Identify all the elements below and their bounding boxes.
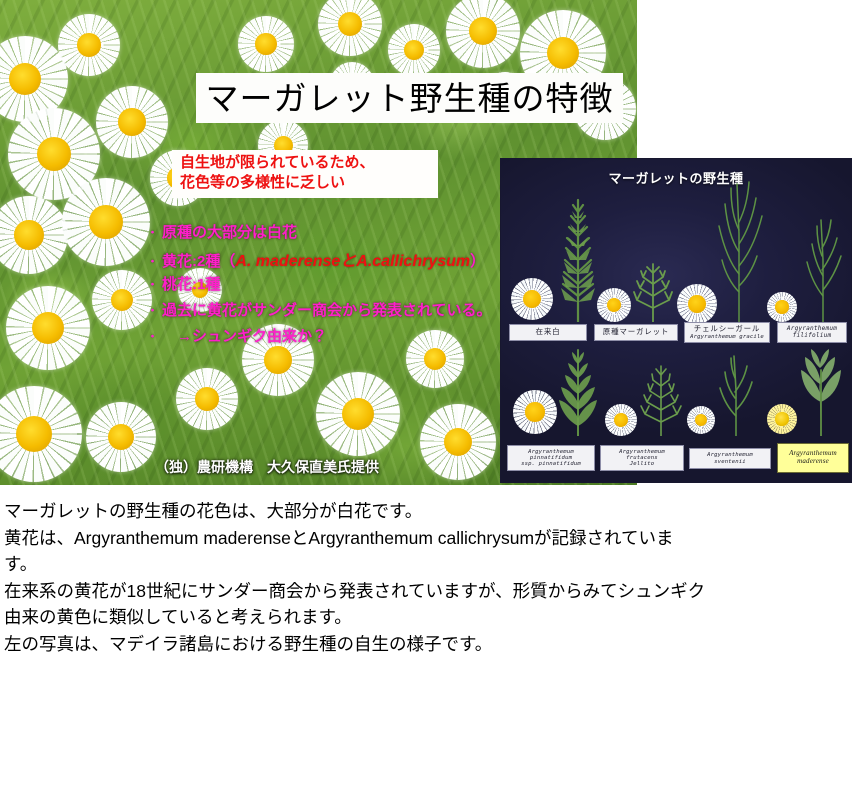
- bullet-marker: ・: [146, 222, 162, 241]
- species-label-line3: ssp. pinnatifidum: [521, 461, 581, 467]
- body-line: マーガレットの野生種の花色は、大部分が白花です。: [4, 498, 852, 525]
- plant-silhouette-chelsea-girl: [713, 174, 767, 322]
- bullet-text: →シュンギク由来か？: [162, 325, 327, 346]
- slide-title-box: マーガレット野生種の特徴: [196, 73, 623, 123]
- bullet-text: 過去に黄花がサンダー商会から発表されている。: [162, 299, 492, 320]
- species-label-frutacens-jellito: Argyranthemum frutacens Jellito: [600, 445, 684, 471]
- species-reference-panel: マーガレットの野生種: [500, 158, 852, 483]
- plant-silhouette-maderense: [797, 340, 845, 436]
- species-label-jp: 原種マーガレット: [603, 328, 669, 336]
- species-label-chelsea-girl: チェルシーガール Argyranthemum gracile: [684, 322, 770, 343]
- flower-head-chelsea-girl: [677, 284, 717, 324]
- body-line: 在来系の黄花が18世紀にサンダー商会から発表されていますが、形質からみてシュンギ…: [4, 578, 852, 605]
- daisy-flower: [86, 402, 156, 472]
- daisy-flower: [58, 14, 120, 76]
- daisy-flower: [6, 286, 90, 370]
- bullet-marker: ・: [146, 300, 162, 319]
- species-label-jp: チェルシーガール: [694, 325, 760, 333]
- daisy-flower: [176, 368, 238, 430]
- daisy-flower: [420, 404, 496, 480]
- daisy-flower: [96, 86, 168, 158]
- bullet-marker: ・: [146, 251, 162, 270]
- daisy-flower: [92, 270, 152, 330]
- daisy-flower: [238, 16, 294, 72]
- species-label-pinnatifidum: Argyranthemum pinnatifidum ssp. pinnatif…: [507, 445, 595, 471]
- species-label-line2: sventenii: [714, 459, 746, 465]
- body-line: 黄花は、Argyranthemum maderenseとArgyranthemu…: [4, 525, 852, 552]
- callout-line-2: 花色等の多様性に乏しい: [180, 173, 430, 193]
- flower-head-filifolium: [767, 292, 797, 322]
- list-item: ・ 桃花:1種: [146, 273, 516, 299]
- bullet-text-tail: ）: [470, 250, 485, 271]
- species-label-scientific-line2: filifolium: [793, 333, 832, 340]
- daisy-flower: [316, 372, 400, 456]
- species-label-sventenii: Argyranthemum sventenii: [689, 448, 771, 469]
- species-label-maderense-highlighted: Argyranthemum maderense: [777, 443, 849, 473]
- list-item: ・ 黄花:2種（A. maderenseとA.callichrysum）: [146, 247, 516, 273]
- species-panel-title: マーガレットの野生種: [501, 168, 851, 187]
- daisy-flower: [62, 178, 150, 266]
- photo-credit: （独）農研機構 大久保直美氏提供: [155, 457, 379, 477]
- body-line: 左の写真は、マデイラ諸島における野生種の自生の様子です。: [4, 631, 852, 658]
- daisy-flower: [388, 24, 440, 76]
- slide-area: マーガレット野生種の特徴 自生地が限られているため、 花色等の多様性に乏しい ・…: [0, 0, 856, 490]
- flower-head-zairaishiro: [511, 278, 553, 320]
- bullet-scientific-name: A. maderenseとA.callichrysum: [235, 247, 470, 271]
- species-label-scientific: Argyranthemum gracile: [690, 334, 764, 340]
- body-line: す。: [4, 551, 852, 578]
- bullet-text: 桃花:1種: [162, 273, 220, 294]
- flower-head-genshu: [597, 288, 631, 322]
- callout-box: 自生地が限られているため、 花色等の多様性に乏しい: [172, 150, 438, 198]
- body-line: 由来の黄色に類似していると考えられます。: [4, 604, 852, 631]
- species-label-line3: Jellito: [630, 461, 655, 467]
- plant-silhouette-genshu: [631, 260, 675, 322]
- list-item: ・ 過去に黄花がサンダー商会から発表されている。: [146, 299, 516, 325]
- bullet-marker: ・: [146, 274, 162, 293]
- flower-head-maderense: [767, 404, 797, 434]
- bullet-list: ・ 原種の大部分は白花 ・ 黄花:2種（A. maderenseとA.calli…: [146, 221, 516, 351]
- plant-silhouette-filifolium: [801, 214, 847, 322]
- list-item: ・ 原種の大部分は白花: [146, 221, 516, 247]
- plant-silhouette-zairaishiro: [555, 192, 601, 322]
- bullet-marker: ・: [146, 326, 162, 345]
- flower-head-sventenii: [687, 406, 715, 434]
- body-paragraph: マーガレットの野生種の花色は、大部分が白花です。 黄花は、Argyranthem…: [4, 498, 852, 657]
- flower-head-frutacens-jellito: [605, 404, 637, 436]
- bullet-text: 黄花:2種（: [162, 250, 235, 271]
- page-title: マーガレット野生種の特徴: [206, 82, 614, 115]
- callout-line-1: 自生地が限られているため、: [180, 153, 430, 173]
- plant-silhouette-frutacens-jellito: [637, 360, 685, 436]
- bullet-text: 原種の大部分は白花: [162, 221, 297, 242]
- species-label-jp: 在来白: [536, 328, 561, 336]
- species-label-genshu-marguerite: 原種マーガレット: [594, 324, 678, 341]
- flower-head-pinnatifidum: [513, 390, 557, 434]
- species-label-line2: maderense: [797, 458, 829, 466]
- species-label-zairaishiro: 在来白: [509, 324, 587, 341]
- plant-silhouette-sventenii: [715, 350, 759, 436]
- list-item: ・ →シュンギク由来か？: [146, 325, 516, 351]
- plant-silhouette-pinnatifidum: [557, 342, 599, 436]
